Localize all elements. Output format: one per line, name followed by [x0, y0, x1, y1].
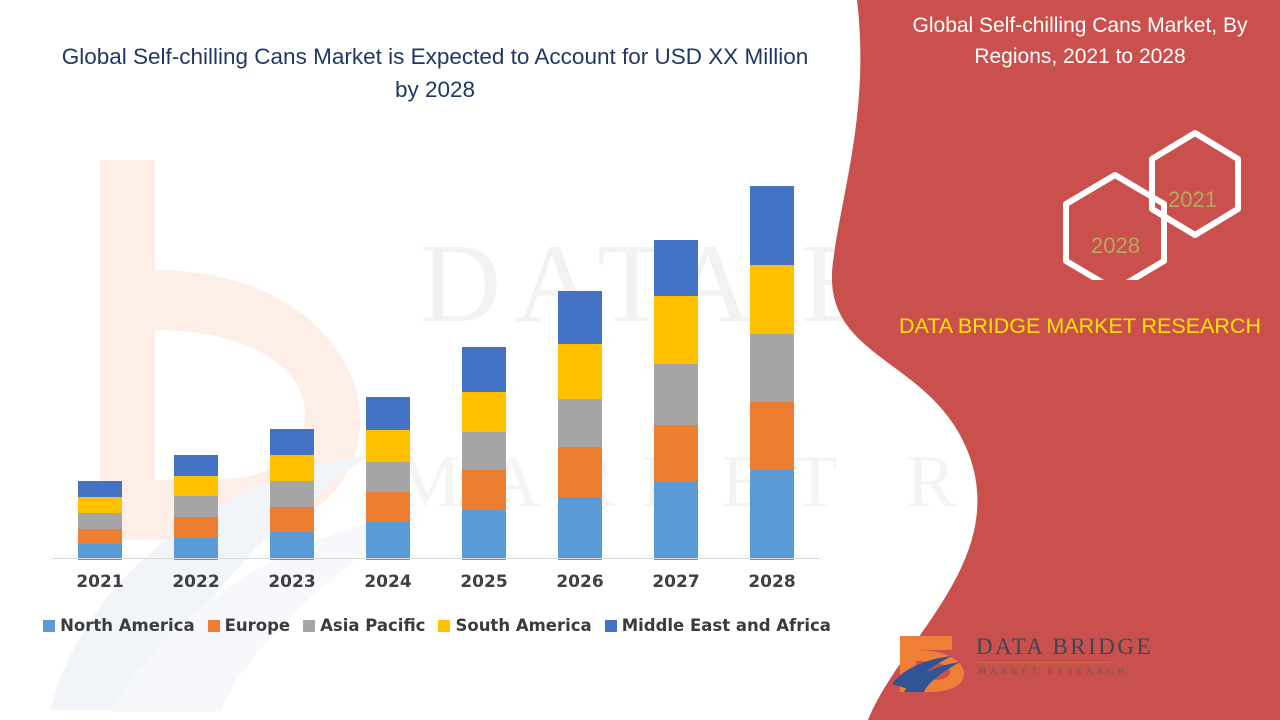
- legend-swatch-icon: [605, 620, 617, 632]
- x-axis-tick-label: 2024: [340, 572, 436, 592]
- data-bridge-logo: DATA BRIDGE MARKET RESEARCH: [888, 628, 1118, 696]
- bar-group[interactable]: [174, 455, 218, 560]
- bar-segment[interactable]: [174, 476, 218, 497]
- bar-segment[interactable]: [654, 240, 698, 296]
- bar-segment[interactable]: [654, 364, 698, 425]
- bar-segment[interactable]: [558, 344, 602, 399]
- bar-segment[interactable]: [750, 402, 794, 470]
- bar-segment[interactable]: [366, 430, 410, 463]
- bar-segment[interactable]: [78, 481, 122, 497]
- bar-segment[interactable]: [558, 399, 602, 447]
- bar-segment[interactable]: [366, 397, 410, 429]
- infographic-page: DATA BRIDGE MARKET RESEARCH Global Self-…: [0, 0, 1280, 720]
- bar-segment[interactable]: [270, 532, 314, 560]
- bar-segment[interactable]: [174, 455, 218, 476]
- legend-item[interactable]: Europe: [208, 616, 291, 635]
- x-axis-tick-labels: 20212022202320242025202620272028: [52, 572, 820, 602]
- bar-segment[interactable]: [462, 392, 506, 432]
- bar-group[interactable]: [750, 186, 794, 560]
- chart-panel: Global Self-chilling Cans Market is Expe…: [0, 0, 870, 720]
- legend-swatch-icon: [43, 620, 55, 632]
- x-axis-tick-label: 2021: [52, 572, 148, 592]
- bar-segment[interactable]: [174, 517, 218, 538]
- bar-segment[interactable]: [78, 513, 122, 529]
- bar-segment[interactable]: [558, 291, 602, 344]
- bar-segment[interactable]: [270, 429, 314, 455]
- bar-segment[interactable]: [558, 497, 602, 560]
- logo-divider: [978, 662, 1111, 663]
- bar-segment[interactable]: [366, 492, 410, 522]
- bar-segment[interactable]: [750, 265, 794, 334]
- hexagon-badges: 2021 2028: [950, 115, 1270, 280]
- bar-segment[interactable]: [654, 482, 698, 560]
- bar-segment[interactable]: [462, 347, 506, 392]
- legend-swatch-icon: [208, 620, 220, 632]
- bar-segment[interactable]: [270, 455, 314, 481]
- bar-group[interactable]: [654, 240, 698, 560]
- bar-segment[interactable]: [270, 507, 314, 533]
- legend-item[interactable]: Middle East and Africa: [605, 616, 831, 635]
- bar-segment[interactable]: [558, 447, 602, 497]
- legend-item[interactable]: North America: [43, 616, 195, 635]
- bar-segment[interactable]: [366, 462, 410, 492]
- page-title: Global Self-chilling Cans Market is Expe…: [60, 40, 810, 106]
- bar-segment[interactable]: [462, 470, 506, 510]
- bar-segment[interactable]: [270, 481, 314, 507]
- bar-group[interactable]: [462, 347, 506, 560]
- bar-group[interactable]: [558, 291, 602, 560]
- bar-group[interactable]: [366, 397, 410, 560]
- x-axis-tick-label: 2027: [628, 572, 724, 592]
- bar-segment[interactable]: [750, 470, 794, 560]
- brand-name-text: DATA BRIDGE MARKET RESEARCH: [890, 310, 1270, 342]
- legend-label: Middle East and Africa: [622, 616, 831, 635]
- bar-segment[interactable]: [654, 425, 698, 482]
- logo-tagline: MARKET RESEARCH: [978, 666, 1128, 676]
- bar-segment[interactable]: [750, 186, 794, 265]
- x-axis-tick-label: 2025: [436, 572, 532, 592]
- bar-segment[interactable]: [750, 334, 794, 402]
- bar-segment[interactable]: [174, 496, 218, 517]
- bar-segment[interactable]: [78, 497, 122, 513]
- red-panel-title: Global Self-chilling Cans Market, By Reg…: [890, 10, 1270, 72]
- x-axis-tick-label: 2023: [244, 572, 340, 592]
- legend-label: Asia Pacific: [320, 616, 425, 635]
- logo-mark-icon: [890, 630, 976, 696]
- legend-swatch-icon: [438, 620, 450, 632]
- bar-segment[interactable]: [78, 529, 122, 545]
- bar-segment[interactable]: [462, 432, 506, 470]
- logo-wordmark: DATA BRIDGE: [976, 634, 1153, 660]
- legend-swatch-icon: [303, 620, 315, 632]
- red-panel-content: Global Self-chilling Cans Market, By Reg…: [880, 0, 1280, 720]
- legend-label: South America: [455, 616, 591, 635]
- hexagon-2028-label: 2028: [1091, 233, 1140, 259]
- legend-item[interactable]: South America: [438, 616, 591, 635]
- bar-segment[interactable]: [366, 522, 410, 560]
- x-axis-tick-label: 2028: [724, 572, 820, 592]
- bar-segment[interactable]: [174, 538, 218, 560]
- legend-item[interactable]: Asia Pacific: [303, 616, 425, 635]
- bar-group[interactable]: [78, 481, 122, 560]
- x-axis-tick-label: 2026: [532, 572, 628, 592]
- x-axis-tick-label: 2022: [148, 572, 244, 592]
- bar-segment[interactable]: [654, 296, 698, 364]
- bar-segment[interactable]: [462, 510, 506, 560]
- x-axis-line: [52, 558, 820, 559]
- chart-legend: North AmericaEuropeAsia PacificSouth Ame…: [52, 616, 822, 635]
- legend-label: North America: [60, 616, 195, 635]
- stacked-bar-chart: [52, 160, 820, 560]
- bar-group[interactable]: [270, 429, 314, 560]
- hexagon-2021-label: 2021: [1168, 187, 1217, 213]
- legend-label: Europe: [225, 616, 291, 635]
